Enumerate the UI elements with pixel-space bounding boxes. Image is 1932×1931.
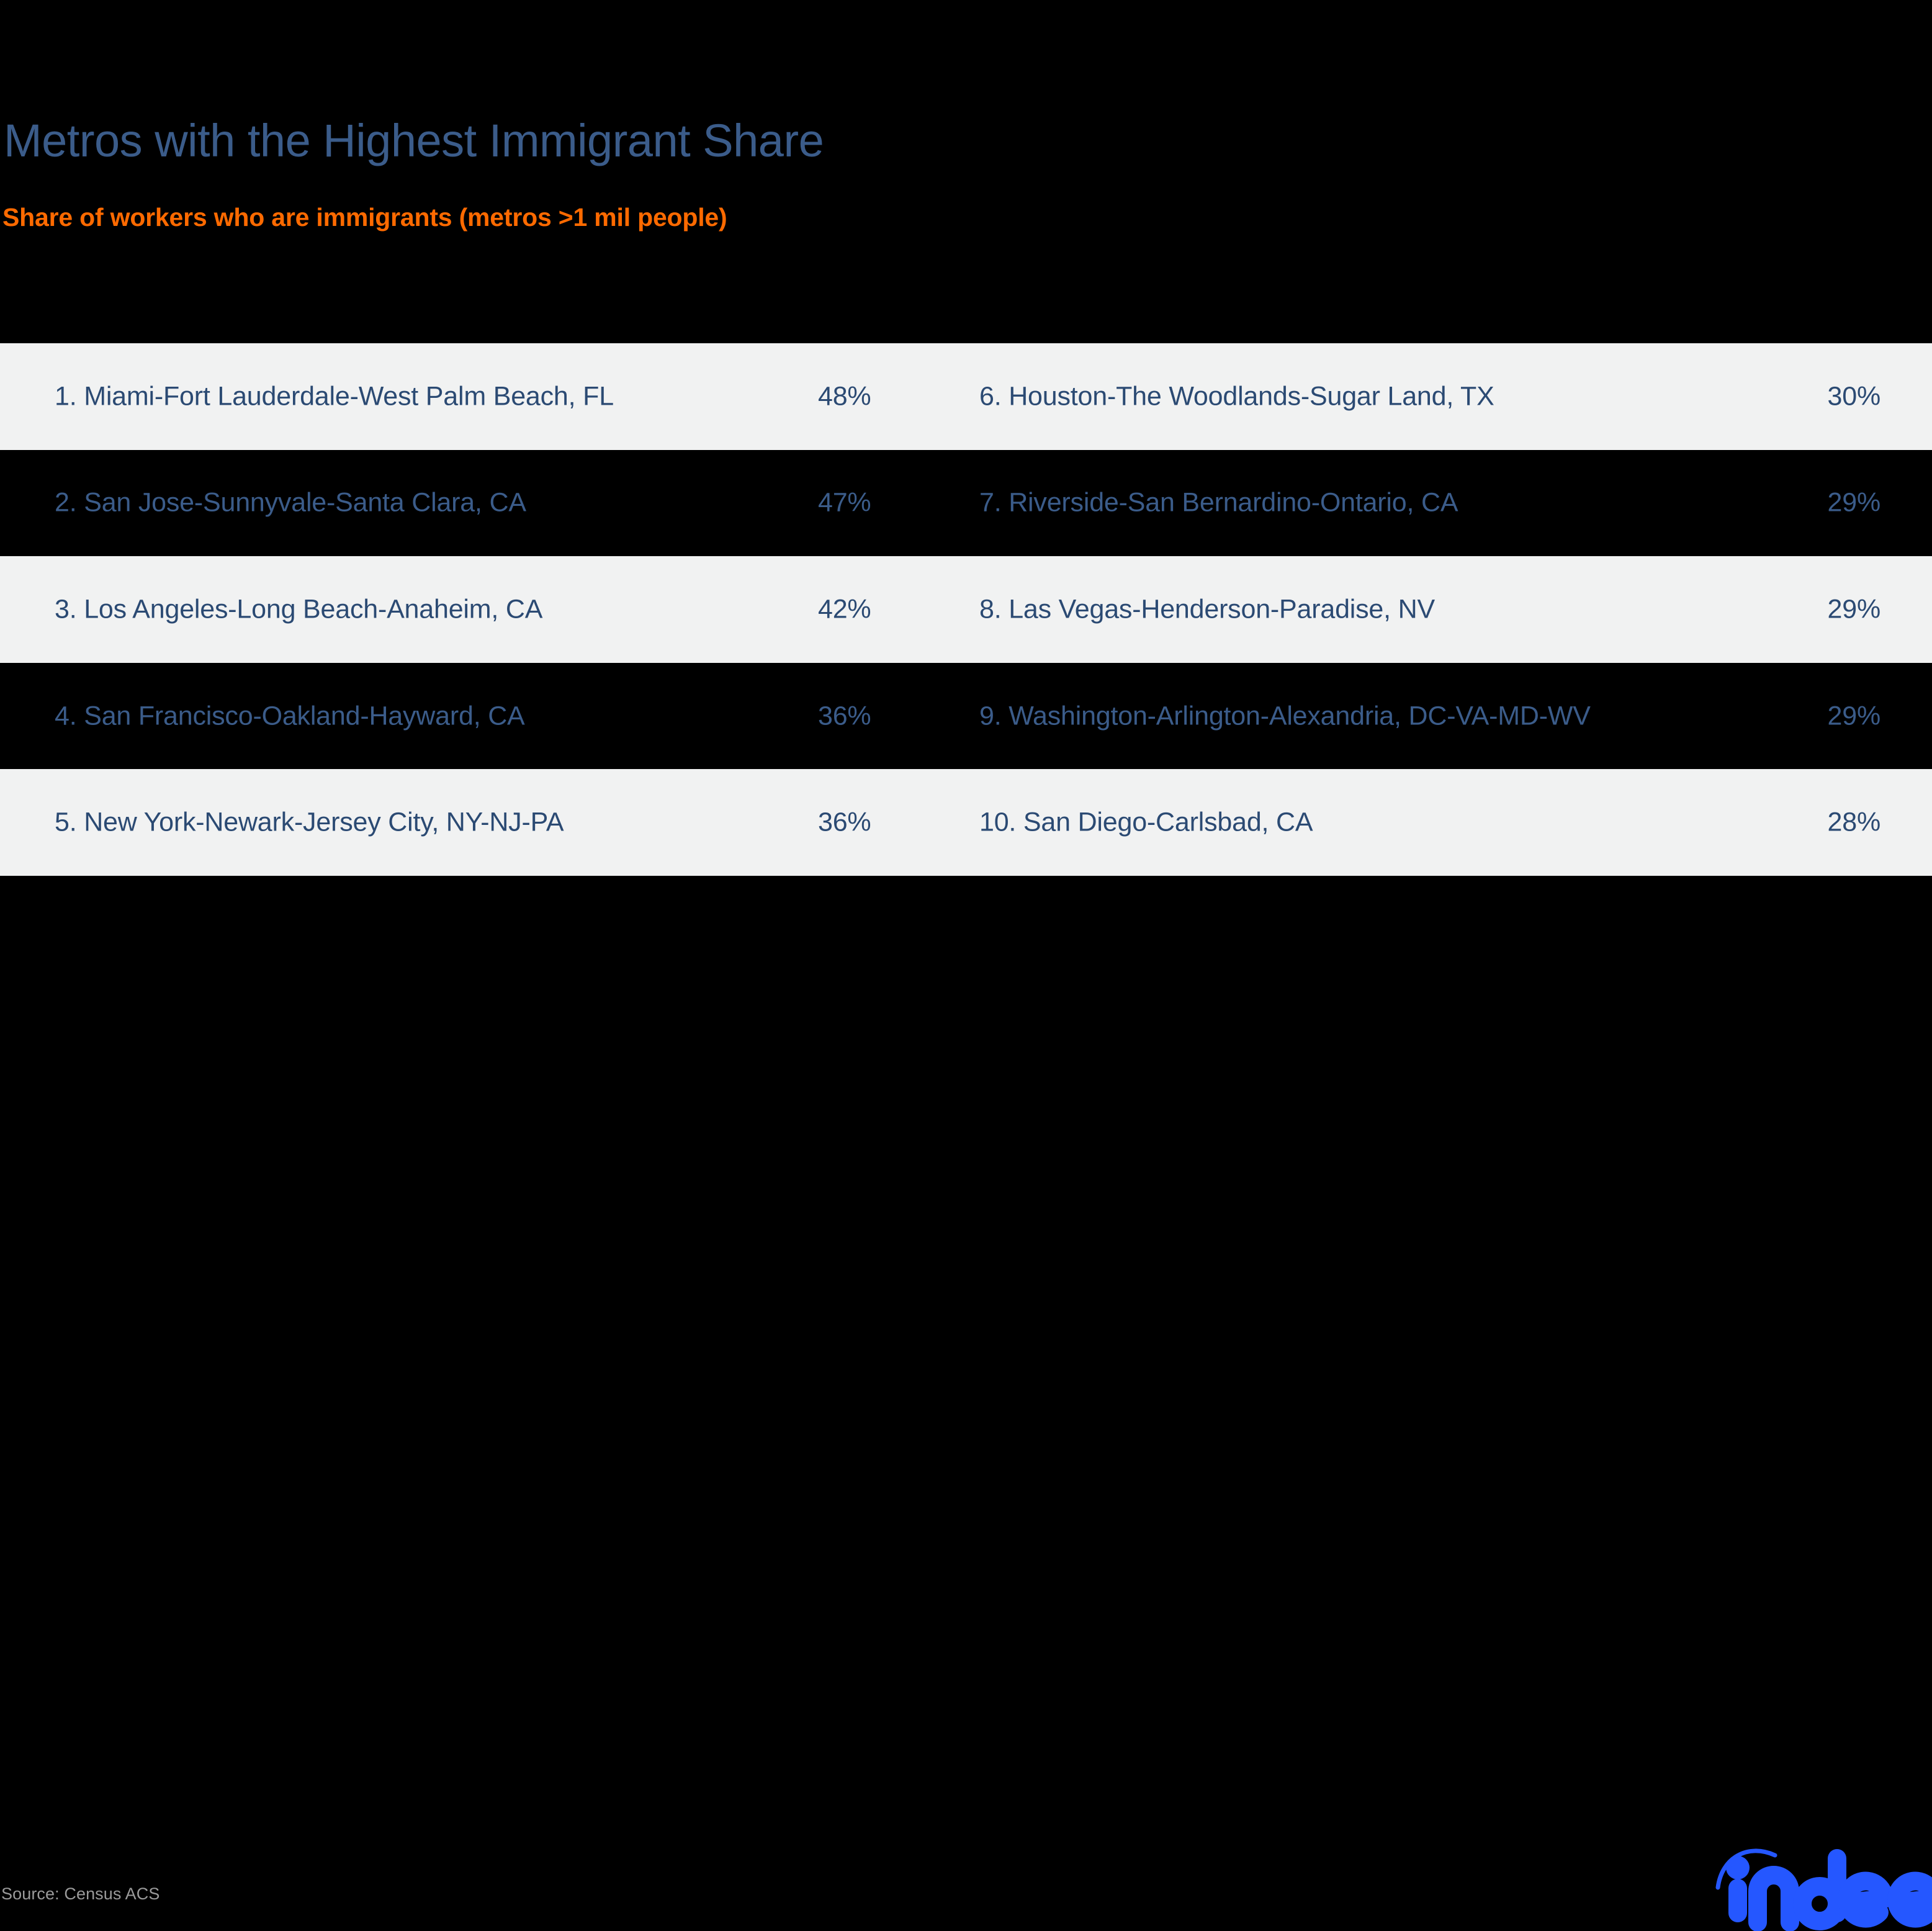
share-value-left: 42% bbox=[818, 596, 871, 623]
metro-label-left: 3. Los Angeles-Long Beach-Anaheim, CA bbox=[55, 596, 542, 623]
chart-header: Metros with the Highest Immigrant Share … bbox=[0, 0, 1932, 343]
indeed-wordmark-icon bbox=[1713, 1838, 1932, 1931]
table-row: 1. Miami-Fort Lauderdale-West Palm Beach… bbox=[0, 343, 1932, 450]
metro-label-right: 8. Las Vegas-Henderson-Paradise, NV bbox=[979, 596, 1435, 623]
indeed-logo bbox=[1713, 1838, 1932, 1931]
chart-subtitle: Share of workers who are immigrants (met… bbox=[2, 205, 727, 230]
share-value-left: 48% bbox=[818, 383, 871, 410]
share-value-left: 36% bbox=[818, 809, 871, 836]
metro-share-table: 1. Miami-Fort Lauderdale-West Palm Beach… bbox=[0, 343, 1932, 876]
table-row: 2. San Jose-Sunnyvale-Santa Clara, CA47%… bbox=[0, 450, 1932, 557]
page-title: Metros with the Highest Immigrant Share bbox=[4, 118, 824, 164]
metro-label-right: 10. San Diego-Carlsbad, CA bbox=[979, 809, 1313, 836]
source-note: Source: Census ACS bbox=[1, 1886, 160, 1902]
metro-label-left: 1. Miami-Fort Lauderdale-West Palm Beach… bbox=[55, 383, 614, 410]
share-value-right: 29% bbox=[1828, 703, 1880, 729]
share-value-left: 47% bbox=[818, 490, 871, 516]
share-value-right: 30% bbox=[1828, 383, 1880, 410]
chart-footer: Source: Census ACS bbox=[0, 876, 1932, 1157]
share-value-right: 29% bbox=[1828, 490, 1880, 516]
metro-label-right: 6. Houston-The Woodlands-Sugar Land, TX bbox=[979, 383, 1494, 410]
share-value-left: 36% bbox=[818, 703, 871, 729]
metro-label-left: 4. San Francisco-Oakland-Hayward, CA bbox=[55, 703, 525, 729]
table-row: 5. New York-Newark-Jersey City, NY-NJ-PA… bbox=[0, 769, 1932, 876]
share-value-right: 29% bbox=[1828, 596, 1880, 623]
share-value-right: 28% bbox=[1828, 809, 1880, 836]
metro-label-right: 7. Riverside-San Bernardino-Ontario, CA bbox=[979, 490, 1458, 516]
metro-label-left: 5. New York-Newark-Jersey City, NY-NJ-PA bbox=[55, 809, 564, 836]
table-row: 3. Los Angeles-Long Beach-Anaheim, CA42%… bbox=[0, 556, 1932, 663]
metro-label-left: 2. San Jose-Sunnyvale-Santa Clara, CA bbox=[55, 490, 526, 516]
metro-label-right: 9. Washington-Arlington-Alexandria, DC-V… bbox=[979, 703, 1591, 729]
table-row: 4. San Francisco-Oakland-Hayward, CA36%9… bbox=[0, 663, 1932, 770]
